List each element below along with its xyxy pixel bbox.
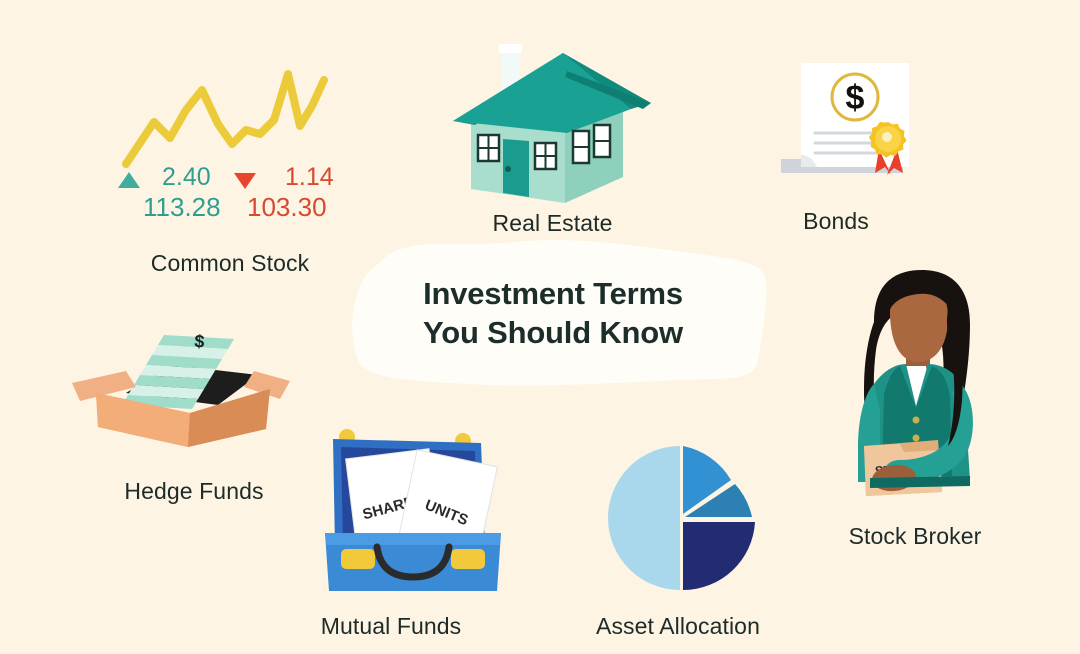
label-stock-broker: Stock Broker [840,523,990,550]
page-title: Investment Terms You Should Know [338,274,768,352]
title-banner: Investment Terms You Should Know [338,228,768,398]
triangle-down-icon [234,173,256,189]
house-icon [445,35,660,205]
ticker-down-change: 1.14 [285,163,334,192]
ticker-down-price: 103.30 [247,192,327,223]
broker-person-icon: STOCKS [830,270,1010,515]
label-bonds: Bonds [780,208,892,235]
ticker-up-price: 113.28 [143,192,221,223]
stock-line-chart-icon [120,60,330,170]
certificate-icon: $ [775,55,925,185]
label-mutual-funds: Mutual Funds [312,613,470,640]
dollar-symbol: $ [846,79,865,117]
briefcase-icon: SHARES UNITS [305,425,520,595]
ticker-up-change: 2.40 [162,163,211,192]
cash-box-icon: $ [68,325,298,450]
label-asset-allocation: Asset Allocation [588,613,768,640]
svg-text:$: $ [194,331,205,352]
label-hedge-funds: Hedge Funds [118,478,270,505]
title-line-2: You Should Know [338,313,768,352]
label-common-stock: Common Stock [145,250,315,277]
title-line-1: Investment Terms [423,276,683,311]
infographic-canvas: 2.40 1.14 113.28 103.30 Common Stock [0,0,1080,654]
triangle-up-icon [118,172,140,188]
stock-ticker: 2.40 1.14 113.28 103.30 [110,163,350,233]
pie-chart-icon [605,443,755,593]
